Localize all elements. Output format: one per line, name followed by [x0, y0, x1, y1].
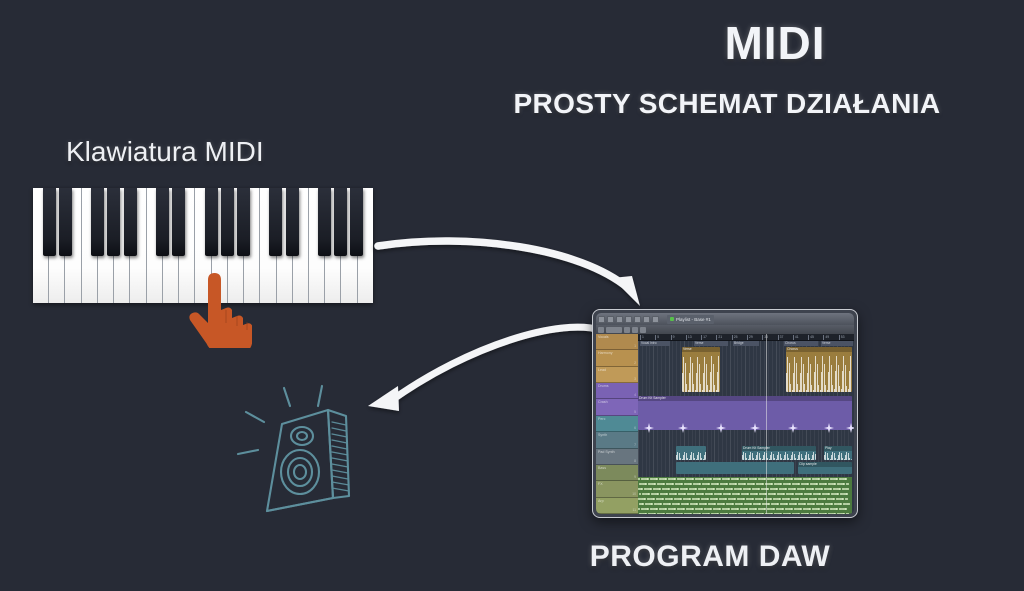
arrangement-marker[interactable]: Chorus: [784, 341, 818, 346]
ruler-tick: [823, 335, 824, 340]
clip-label: Clip sample: [798, 462, 852, 467]
ruler-label: 41: [795, 335, 799, 339]
arrangement-marker[interactable]: Verse: [694, 341, 728, 346]
pointing-hand-icon: [186, 272, 252, 348]
daw-track-name: Arp: [598, 499, 604, 503]
daw-track-header[interactable]: Lead3: [596, 367, 638, 383]
tab-indicator-icon: [670, 317, 674, 321]
daw-track-header[interactable]: Drums4: [596, 383, 638, 399]
daw-clip[interactable]: Play: [824, 446, 852, 460]
daw-window-inner: Playlist - Base #1 Vocals1Harmony2Lead3D…: [596, 313, 854, 514]
daw-track-header[interactable]: Harmony2: [596, 350, 638, 366]
clip-automation-point[interactable]: [788, 420, 797, 429]
daw-track-header[interactable]: Synth7: [596, 432, 638, 448]
ruler-tick: [747, 335, 748, 340]
arrangement-marker[interactable]: Bridge: [733, 341, 759, 346]
daw-toolbar-button[interactable]: [607, 316, 614, 323]
ruler-tick: [701, 335, 702, 340]
daw-toolbar-button[interactable]: [634, 316, 641, 323]
daw-track-name: Synth: [598, 433, 607, 437]
daw-window-tab[interactable]: Playlist - Base #1: [667, 315, 714, 324]
daw-toolbar-button[interactable]: [643, 316, 650, 323]
daw-toolbar2-button[interactable]: [598, 327, 604, 333]
daw-track-number: 6: [634, 426, 636, 430]
poster-canvas: MIDI PROSTY SCHEMAT DZIAŁANIA Klawiatura…: [0, 0, 1024, 591]
ruler-label: 1: [642, 335, 644, 339]
clip-waveform: [742, 451, 816, 460]
daw-track-name: Bass: [598, 466, 606, 470]
daw-track-name: Drums: [598, 384, 609, 388]
daw-titlebar-buttons[interactable]: [598, 316, 659, 323]
ruler-label: 53: [841, 335, 845, 339]
clip-automation-point[interactable]: [824, 420, 833, 429]
daw-track-number: 10: [632, 492, 636, 496]
daw-track-number: 9: [634, 475, 636, 479]
daw-toolbar-button[interactable]: [598, 316, 605, 323]
daw-timeline-ruler[interactable]: 1591317212529333741454953: [638, 334, 854, 341]
daw-track-name: Vocals: [598, 335, 609, 339]
clip-waveform: [682, 352, 720, 392]
daw-track-name: Lead: [598, 368, 606, 372]
ruler-label: 13: [688, 335, 692, 339]
daw-toolbar2-button[interactable]: [640, 327, 646, 333]
daw-playlist-grid[interactable]: 1591317212529333741454953 Vocal IntroVer…: [638, 334, 854, 514]
daw-track-number: 5: [634, 410, 636, 414]
ruler-tick: [808, 335, 809, 340]
daw-track-header[interactable]: Vocals1: [596, 334, 638, 350]
ruler-label: 25: [734, 335, 738, 339]
piano-black-key[interactable]: [237, 188, 250, 256]
daw-track-number: 4: [634, 393, 636, 397]
piano-black-key[interactable]: [286, 188, 299, 256]
piano-black-key[interactable]: [221, 188, 234, 256]
daw-clip[interactable]: Drum Kit Sampler: [638, 396, 852, 430]
daw-track-header[interactable]: Perc6: [596, 416, 638, 432]
piano-black-key[interactable]: [205, 188, 218, 256]
clip-waveform: [676, 451, 706, 460]
ruler-label: 9: [673, 335, 675, 339]
daw-window-title: Playlist - Base #1: [676, 317, 711, 322]
daw-bass-region[interactable]: [638, 477, 852, 514]
daw-track-number: 11: [632, 508, 636, 512]
clip-automation-point[interactable]: [678, 420, 687, 429]
daw-toolbar-button[interactable]: [652, 316, 659, 323]
piano-black-key[interactable]: [43, 188, 56, 256]
keyboard-label: Klawiatura MIDI: [66, 136, 264, 168]
daw-toolbar-button[interactable]: [616, 316, 623, 323]
daw-toolbar2-button[interactable]: [632, 327, 638, 333]
piano-black-key[interactable]: [59, 188, 72, 256]
clip-automation-point[interactable]: [644, 420, 653, 429]
clip-waveform: [824, 451, 852, 460]
piano-black-key[interactable]: [124, 188, 137, 256]
daw-playlist-body: Vocals1Harmony2Lead3Drums4Crash5Perc6Syn…: [596, 334, 854, 514]
daw-track-header[interactable]: Bass9: [596, 465, 638, 481]
piano-black-key[interactable]: [107, 188, 120, 256]
arrangement-marker[interactable]: Vocal Intro: [640, 341, 670, 346]
ruler-tick: [671, 335, 672, 340]
arrow-daw-to-speaker: [368, 327, 600, 411]
piano-black-key[interactable]: [318, 188, 331, 256]
daw-track-header[interactable]: Pad Synth8: [596, 449, 638, 465]
daw-clip[interactable]: Verse: [682, 347, 720, 392]
daw-track-number: 1: [634, 344, 636, 348]
daw-clip[interactable]: Clip sample: [798, 462, 852, 474]
daw-track-headers[interactable]: Vocals1Harmony2Lead3Drums4Crash5Perc6Syn…: [596, 334, 638, 514]
piano-black-key[interactable]: [350, 188, 363, 256]
clip-automation-point[interactable]: [716, 420, 725, 429]
daw-titlebar[interactable]: Playlist - Base #1: [596, 313, 854, 325]
piano-black-key[interactable]: [91, 188, 104, 256]
daw-toolbar-button[interactable]: [625, 316, 632, 323]
ruler-tick: [793, 335, 794, 340]
daw-track-header[interactable]: Crash5: [596, 399, 638, 415]
daw-track-number: 3: [634, 377, 636, 381]
ruler-label: 29: [749, 335, 753, 339]
speaker-doodle-icon: [232, 372, 382, 520]
piano-black-keys: [33, 188, 373, 256]
daw-clip[interactable]: Drum Kit Sampler: [742, 446, 816, 460]
ruler-tick: [640, 335, 641, 340]
daw-window[interactable]: Playlist - Base #1 Vocals1Harmony2Lead3D…: [592, 309, 858, 518]
daw-clip[interactable]: [676, 446, 706, 460]
daw-track-number: 7: [634, 443, 636, 447]
ruler-tick: [732, 335, 733, 340]
ruler-tick: [762, 335, 763, 340]
ruler-tick: [716, 335, 717, 340]
ruler-label: 5: [657, 335, 659, 339]
ruler-label: 49: [825, 335, 829, 339]
daw-track-header[interactable]: Arp11: [596, 498, 638, 514]
daw-label: PROGRAM DAW: [540, 540, 880, 574]
daw-track-number: 2: [634, 361, 636, 365]
daw-track-number: 8: [634, 459, 636, 463]
ruler-label: 21: [718, 335, 722, 339]
daw-toolbar2-button[interactable]: [606, 327, 622, 333]
ruler-tick: [839, 335, 840, 340]
daw-track-name: Perc: [598, 417, 605, 421]
piano-black-key[interactable]: [172, 188, 185, 256]
page-title: MIDI: [565, 16, 985, 70]
daw-track-header[interactable]: FX10: [596, 481, 638, 497]
piano-black-key[interactable]: [269, 188, 282, 256]
clip-automation-point[interactable]: [846, 420, 854, 429]
arrow-keyboard-to-daw: [378, 241, 640, 306]
daw-playhead[interactable]: [766, 334, 767, 514]
clip-automation-point[interactable]: [750, 420, 759, 429]
ruler-tick: [778, 335, 779, 340]
ruler-label: 37: [780, 335, 784, 339]
daw-track-name: FX: [598, 482, 603, 486]
ruler-tick: [655, 335, 656, 340]
daw-clip[interactable]: Chorus: [786, 347, 852, 392]
daw-track-name: Pad Synth: [598, 450, 615, 454]
ruler-label: 45: [810, 335, 814, 339]
ruler-label: 17: [703, 335, 707, 339]
ruler-tick: [686, 335, 687, 340]
page-subtitle: PROSTY SCHEMAT DZIAŁANIA: [430, 88, 1024, 120]
daw-clip[interactable]: [676, 462, 794, 474]
piano-black-key[interactable]: [334, 188, 347, 256]
daw-track-name: Harmony: [598, 351, 613, 355]
piano-black-key[interactable]: [156, 188, 169, 256]
clip-waveform: [786, 352, 852, 392]
clip-label: Drum Kit Sampler: [638, 396, 852, 401]
daw-toolbar2-button[interactable]: [624, 327, 630, 333]
daw-track-name: Crash: [598, 400, 608, 404]
arrangement-marker[interactable]: Verse: [821, 341, 853, 346]
daw-secondary-toolbar[interactable]: [596, 325, 854, 334]
